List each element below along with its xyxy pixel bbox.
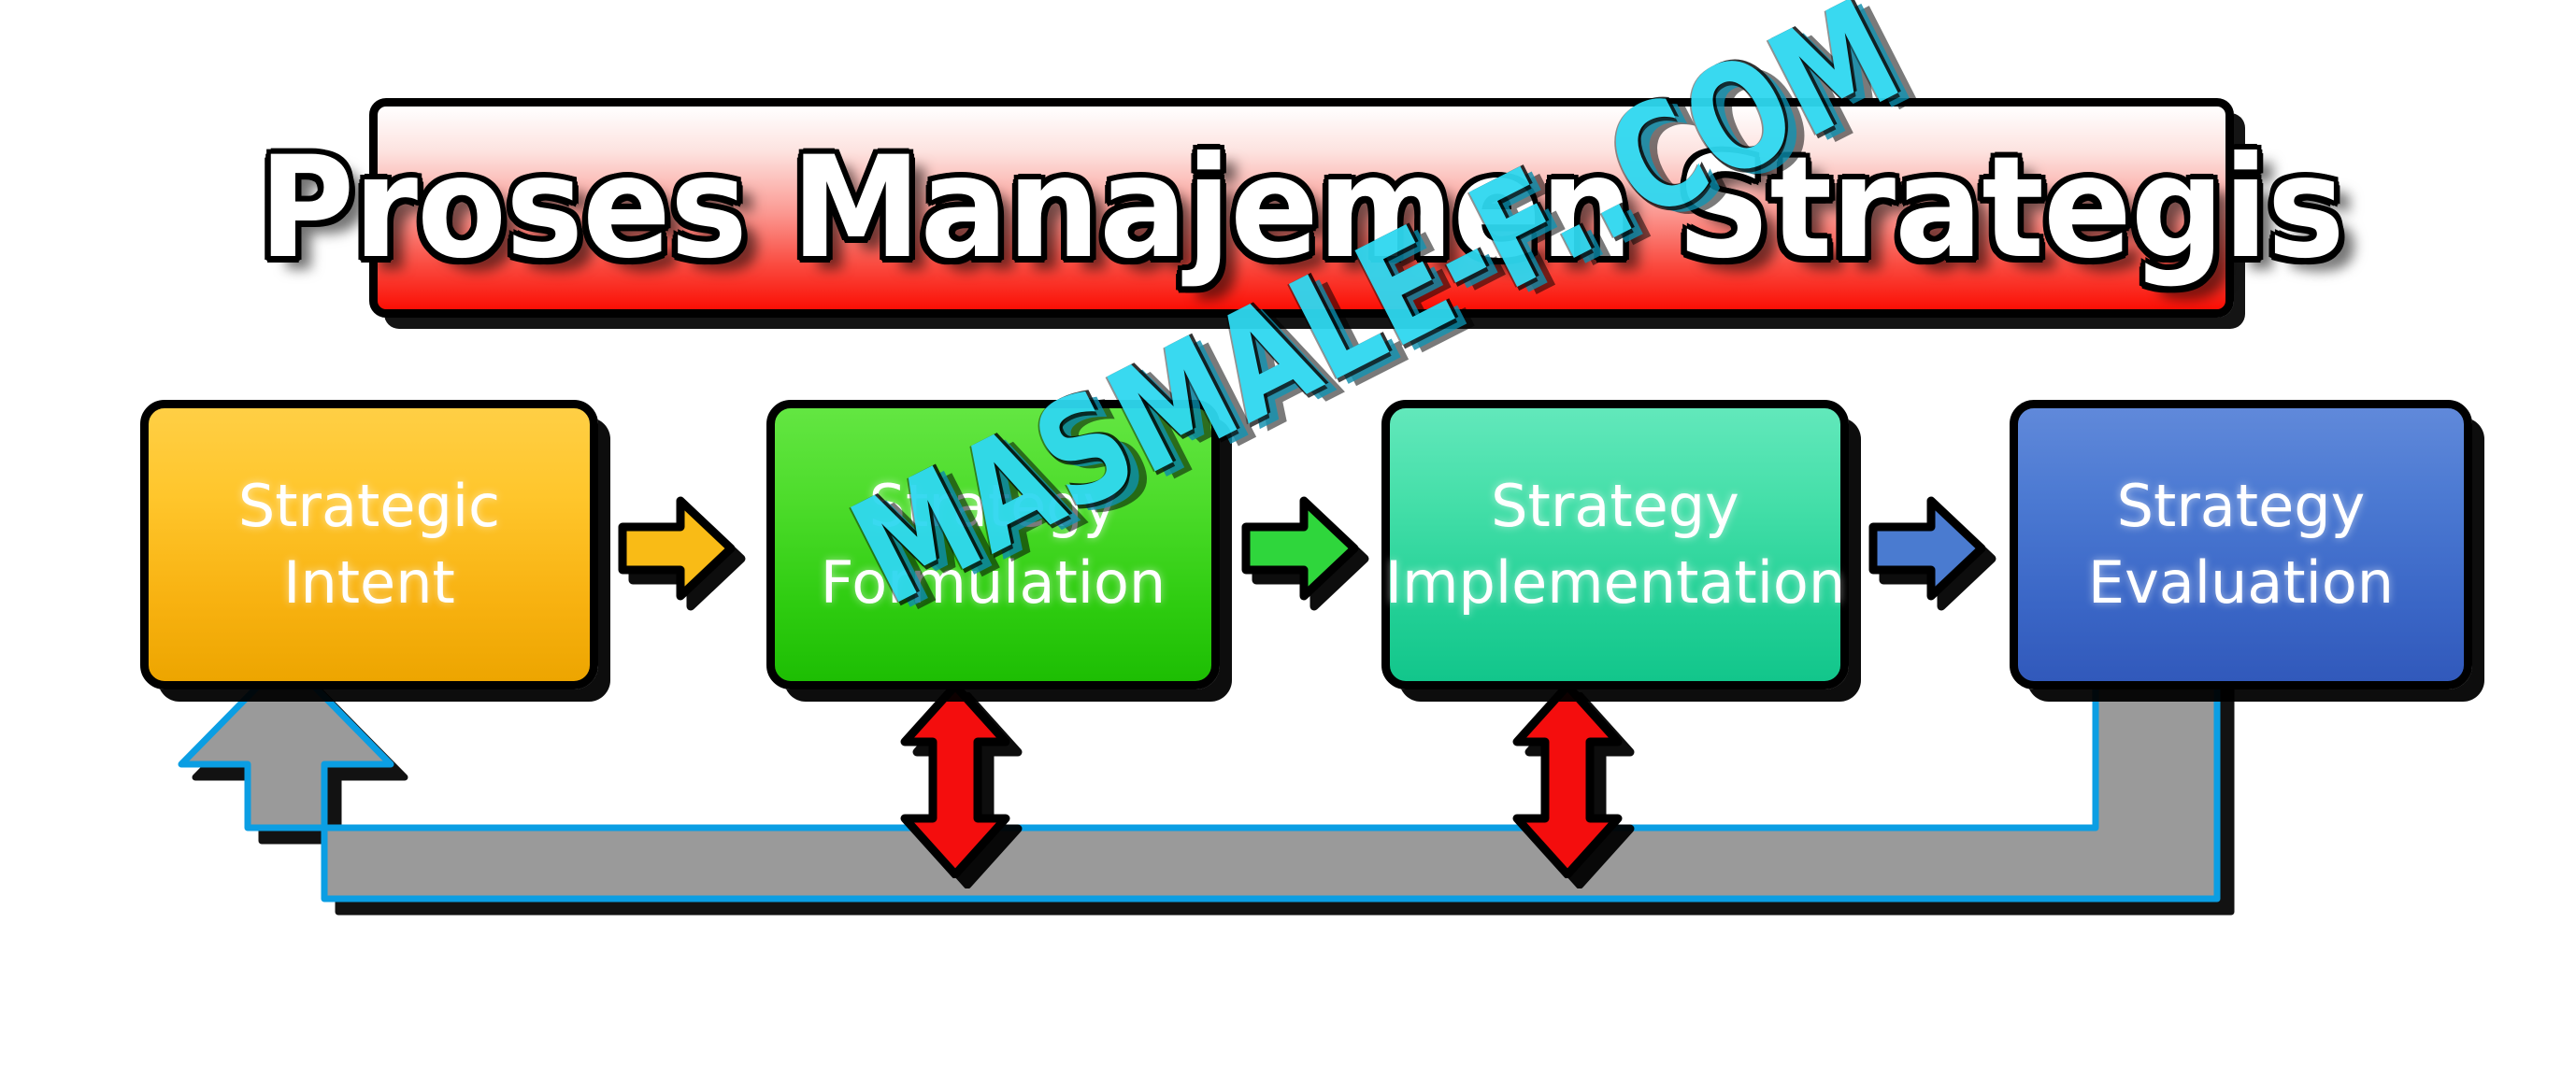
title-banner: Proses Manajemen Strategis	[369, 98, 2234, 318]
page-title: Proses Manajemen Strategis	[259, 138, 2344, 278]
double-arrow-icon-implementation-feedback	[1510, 682, 1625, 878]
diagram-canvas: Proses Manajemen Strategis Strategic Int…	[0, 0, 2576, 1066]
arrow-right-icon-formulation-to-implementation	[1240, 493, 1360, 604]
process-box-strategy-evaluation[interactable]: Strategy Evaluation	[2010, 400, 2472, 689]
process-box-strategy-implementation[interactable]: Strategy Implementation	[1381, 400, 1849, 689]
process-box-label: Strategy Implementation	[1372, 468, 1858, 621]
process-box-label-line2: Implementation	[1385, 548, 1845, 617]
process-box-label-line2: Evaluation	[2088, 548, 2394, 617]
process-box-label-line1: Strategy	[1491, 472, 1739, 540]
process-box-label-line1: Strategy	[2117, 472, 2366, 540]
process-box-strategy-formulation[interactable]: Strategy Formulation	[766, 400, 1220, 689]
double-arrow-icon-formulation-feedback	[897, 682, 1013, 878]
process-box-label: Strategy Formulation	[808, 468, 1179, 621]
process-box-label: Strategic Intent	[149, 468, 590, 621]
feedback-loop-arrow	[178, 654, 2299, 990]
arrow-right-icon-implementation-to-evaluation	[1868, 493, 1987, 604]
process-box-label: Strategy Evaluation	[2075, 468, 2407, 621]
process-box-label-line2: Formulation	[821, 548, 1166, 617]
feedback-loop-shape	[181, 654, 2217, 972]
process-box-label-line1: Strategy	[869, 472, 1118, 540]
arrow-right-icon-intent-to-formulation	[617, 493, 737, 604]
process-box-strategic-intent[interactable]: Strategic Intent	[140, 400, 598, 689]
